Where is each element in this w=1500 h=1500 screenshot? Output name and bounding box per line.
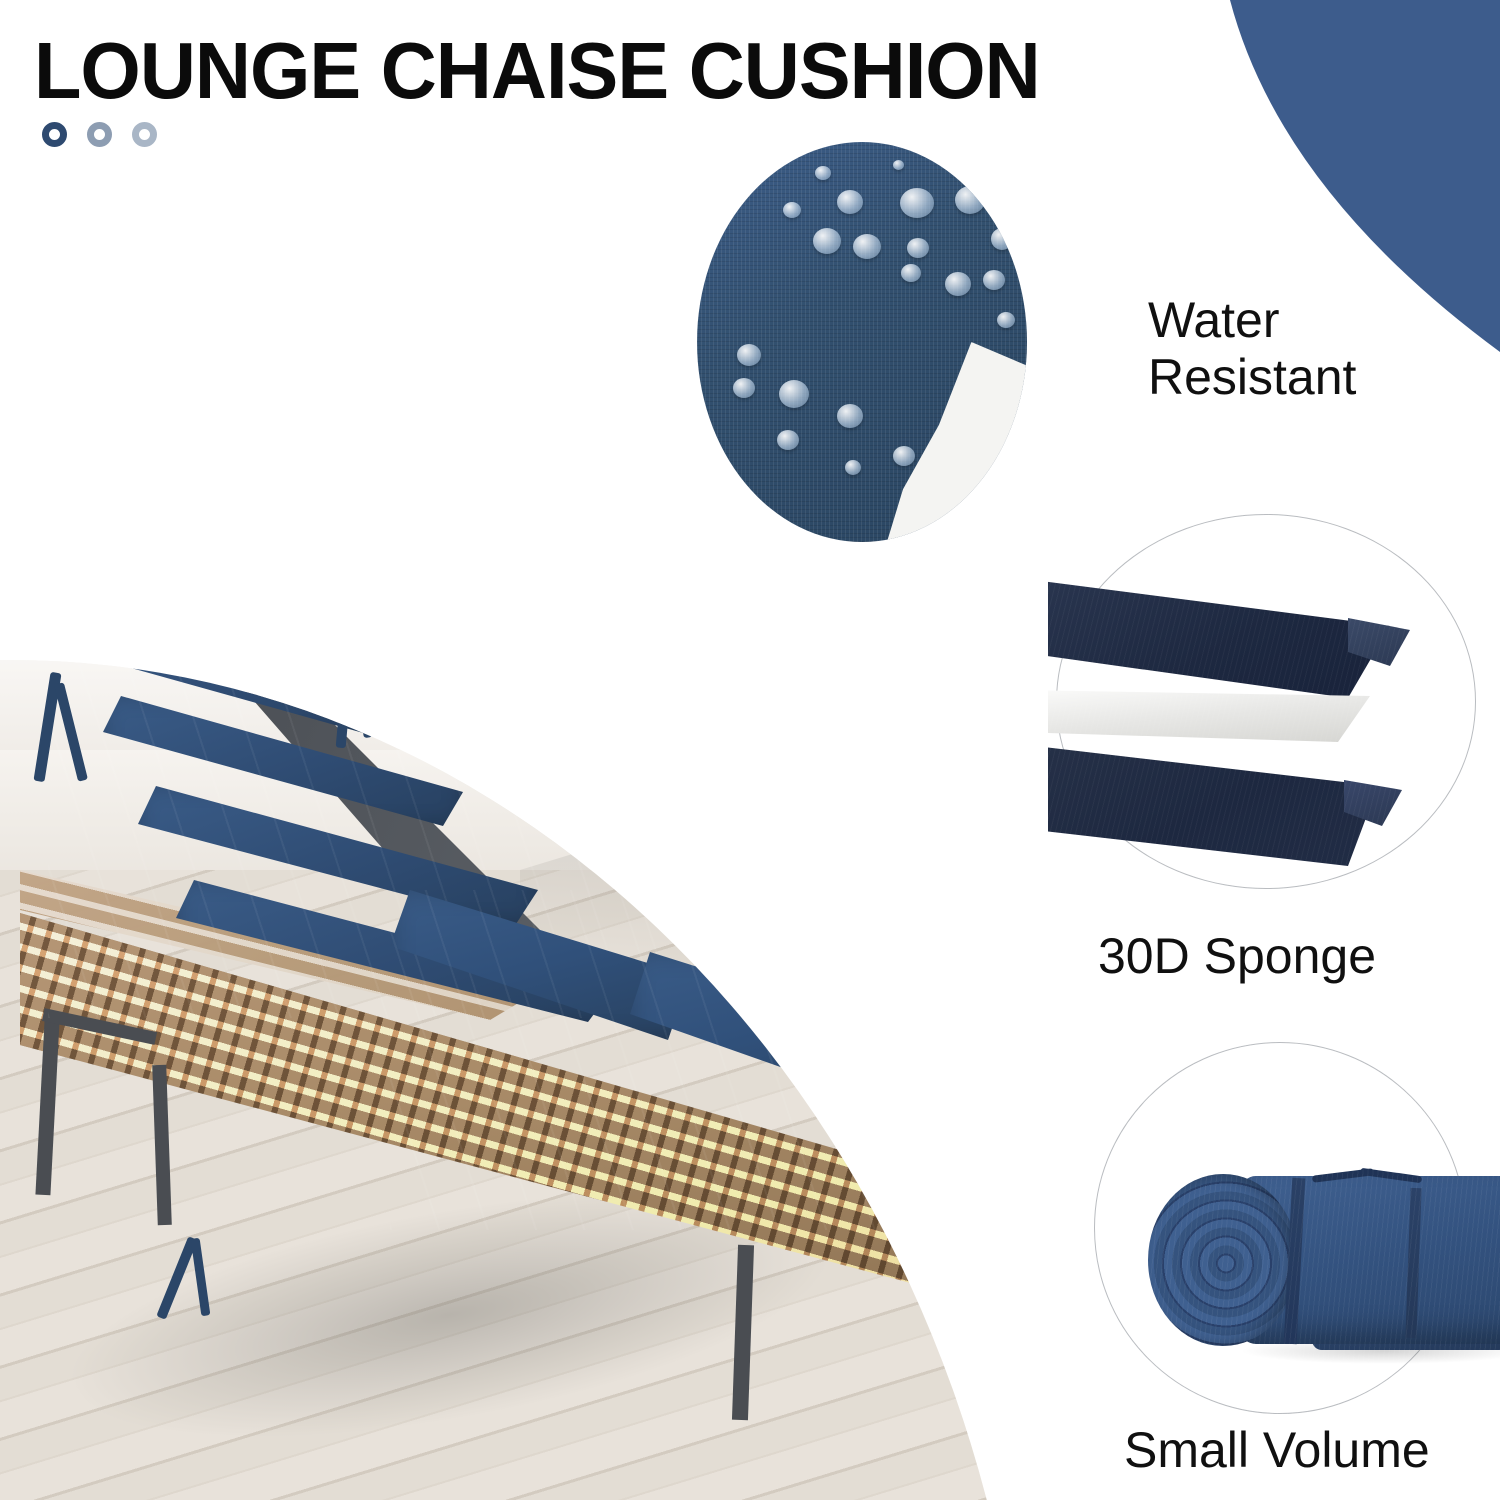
water-label-line-2: Resistant: [1148, 349, 1356, 405]
chaise-leg-foot-end: [1031, 1190, 1054, 1346]
cushion-seat-section: [390, 890, 1080, 1230]
sponge-label: 30D Sponge: [1098, 928, 1376, 985]
water-resistant-label: Water Resistant: [1148, 292, 1356, 406]
cushion-panel-7: [860, 1018, 1080, 1183]
decor-urn-small: [170, 530, 258, 650]
page-title: LOUNGE CHAISE CUSHION: [34, 28, 1040, 114]
rolled-cushion-photo: [1090, 1038, 1500, 1428]
water-label-line-1: Water: [1148, 292, 1280, 348]
background-ivy: [500, 500, 700, 690]
small-volume-label: Small Volume: [1124, 1422, 1430, 1479]
progress-dots: [42, 122, 157, 147]
swimming-pool-water: [690, 638, 1080, 922]
cushion-tie-strap-4: [350, 650, 373, 738]
rolled-cushion-tie-bow: [1312, 1168, 1432, 1190]
dot-indicator-1: [42, 122, 67, 147]
dot-indicator-3: [132, 122, 157, 147]
dot-indicator-2: [87, 122, 112, 147]
cushion-panel-6: [630, 952, 930, 1112]
decor-urn-large: [275, 425, 405, 640]
water-resistant-photo: [697, 142, 1027, 542]
chaise-leg-mid: [732, 1245, 754, 1420]
chaise-leg-rear-left: [152, 1065, 172, 1225]
cushion-tie-strap-6: [191, 1238, 211, 1316]
decor-lantern: [420, 470, 515, 640]
decor-urn-texture: [275, 460, 405, 620]
sponge-layers-photo: [1048, 508, 1500, 898]
rolled-cushion-spiral-end: [1148, 1174, 1298, 1346]
pool-coping-edge: [640, 735, 1080, 824]
